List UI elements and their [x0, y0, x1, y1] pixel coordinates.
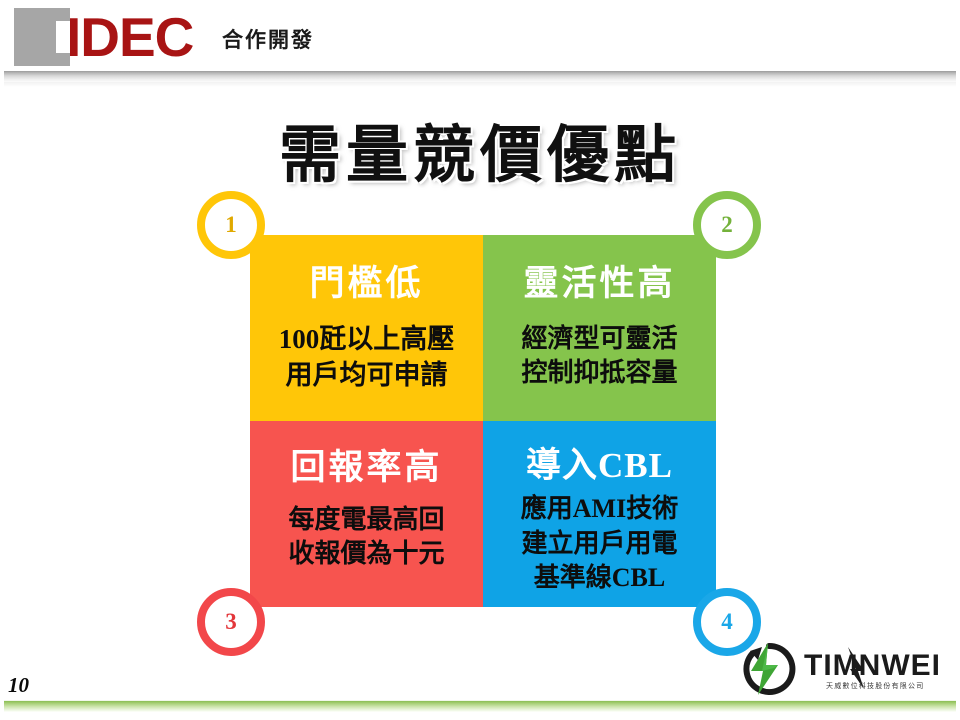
cell-2-heading: 靈活性高: [489, 255, 710, 306]
grid-cell-1: 門檻低 100瓩以上高壓 用戶均可申請: [250, 235, 483, 421]
advantages-grid: 門檻低 100瓩以上高壓 用戶均可申請 靈活性高 經濟型可靈活 控制抑抵容量 回…: [250, 235, 716, 607]
idec-logo-mark-icon: [14, 8, 70, 66]
timnwei-bolt-circle-icon: [738, 641, 800, 697]
slide: IDEC 合作開發 需量競價優點 門檻低 100瓩以上高壓 用戶均可申請 靈活性…: [0, 0, 960, 720]
timnwei-logo: TIMNWEI 天威數位科技股份有限公司: [738, 641, 956, 699]
slide-header: IDEC 合作開發: [0, 0, 960, 72]
header-subtitle: 合作開發: [222, 24, 314, 54]
cell-2-body: 經濟型可靈活 控制抑抵容量: [489, 322, 710, 391]
cell-4-body: 應用AMI技術 建立用戶用電 基準線CBL: [489, 492, 710, 596]
cell-3-heading: 回報率高: [256, 439, 477, 490]
grid-cell-2: 靈活性高 經濟型可靈活 控制抑抵容量: [483, 235, 716, 421]
grid-cell-4: 導入CBL 應用AMI技術 建立用戶用電 基準線CBL: [483, 421, 716, 607]
idec-logo-text: IDEC: [66, 8, 193, 66]
cell-1-body-line-2: 用戶均可申請: [256, 358, 477, 394]
cell-2-body-line-1: 經濟型可靈活: [489, 322, 710, 356]
cell-1-body-line-1: 100瓩以上高壓: [256, 322, 477, 358]
footer-divider: [4, 700, 956, 712]
cell-2-body-line-2: 控制抑抵容量: [489, 356, 710, 390]
grid-cell-3: 回報率高 每度電最高回 收報價為十元: [250, 421, 483, 607]
cell-3-body-line-2: 收報價為十元: [256, 537, 477, 571]
number-badge-2: 2: [693, 191, 761, 259]
number-badge-3: 3: [197, 588, 265, 656]
timnwei-company-subtitle: 天威數位科技股份有限公司: [826, 681, 924, 691]
cell-4-body-line-3: 基準線CBL: [489, 561, 710, 596]
header-divider: [4, 70, 956, 83]
cell-1-body: 100瓩以上高壓 用戶均可申請: [256, 322, 477, 393]
cell-1-heading: 門檻低: [256, 255, 477, 306]
cell-3-body-line-1: 每度電最高回: [256, 503, 477, 537]
number-badge-1: 1: [197, 191, 265, 259]
cell-3-body: 每度電最高回 收報價為十元: [256, 503, 477, 572]
cell-4-heading: 導入CBL: [489, 437, 710, 488]
idec-logo: IDEC: [14, 6, 193, 68]
cell-4-body-line-1: 應用AMI技術: [489, 492, 710, 527]
page-title: 需量競價優點: [0, 104, 960, 194]
cell-4-body-line-2: 建立用戶用電: [489, 527, 710, 562]
page-number: 10: [8, 673, 29, 698]
number-badge-4: 4: [693, 588, 761, 656]
